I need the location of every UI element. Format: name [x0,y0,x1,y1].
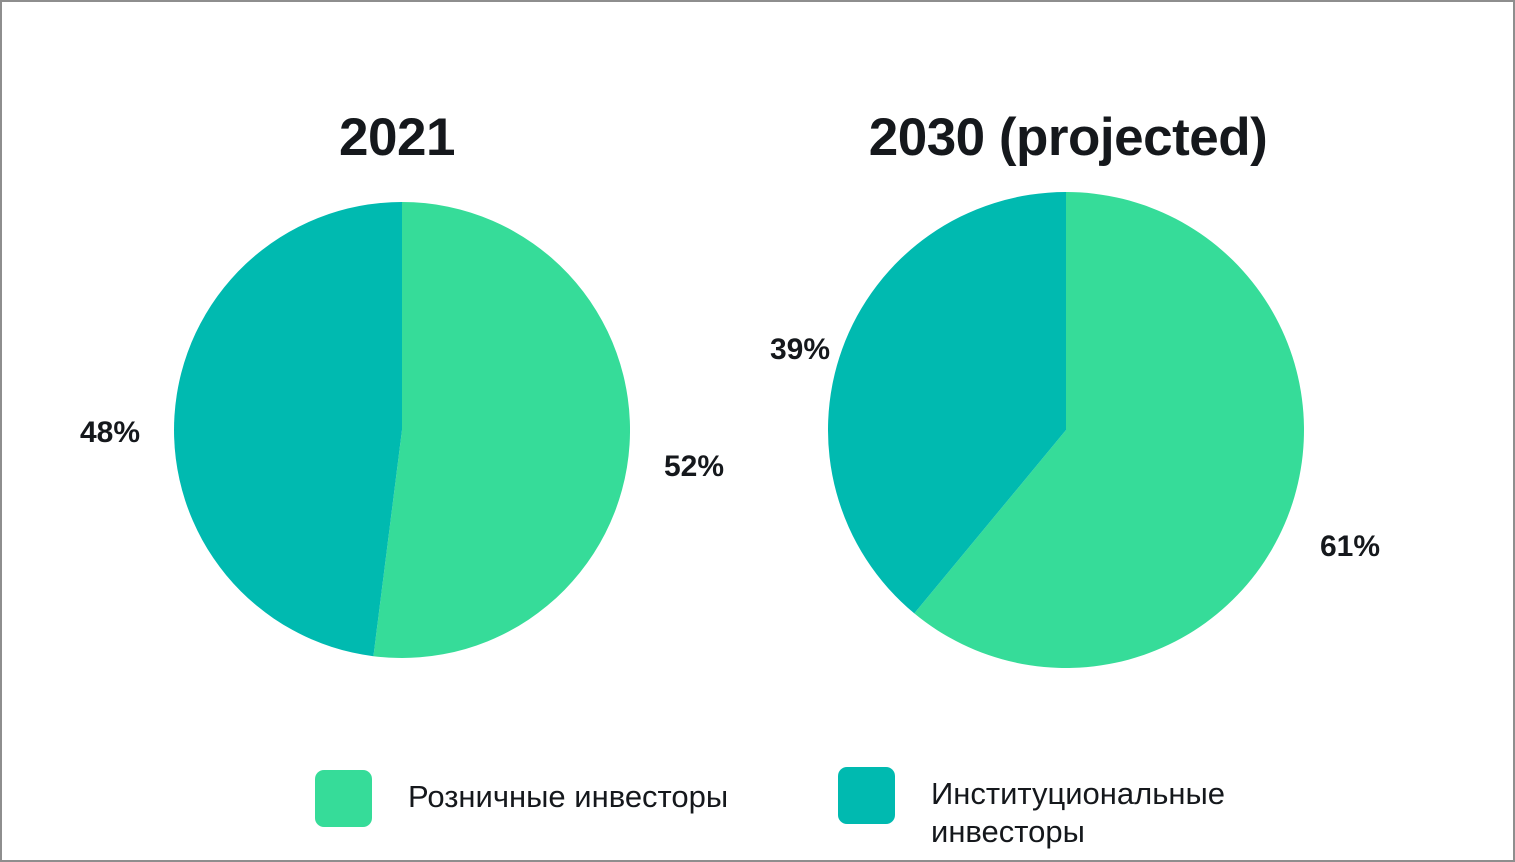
pie-slice-retail-2021 [373,202,630,658]
chart-title-right: 2030 (projected) [869,111,1267,164]
pie-label-institutional-2030: 39% [770,335,830,365]
pie-slice-institutional-2021 [174,202,402,656]
pie-label-institutional-2021: 48% [80,418,140,448]
pie-chart-2030 [828,192,1304,668]
legend-label-retail: Розничные инвесторы [408,770,728,816]
legend-label-institutional: Институциональные инвесторы [931,767,1351,851]
legend-swatch-institutional [838,767,895,824]
pie-label-retail-2030: 61% [1320,532,1380,562]
legend-item-institutional: Институциональные инвесторы [838,767,1351,851]
pie-chart-2021 [174,202,630,658]
chart-canvas: 2021 2030 (projected) 48% 52% 39% 61% Ро… [0,0,1515,862]
chart-legend: Розничные инвесторы Институциональные ин… [2,754,1515,854]
pie-label-retail-2021: 52% [664,452,724,482]
chart-title-left: 2021 [339,111,455,164]
legend-item-retail: Розничные инвесторы [315,770,728,827]
legend-swatch-retail [315,770,372,827]
